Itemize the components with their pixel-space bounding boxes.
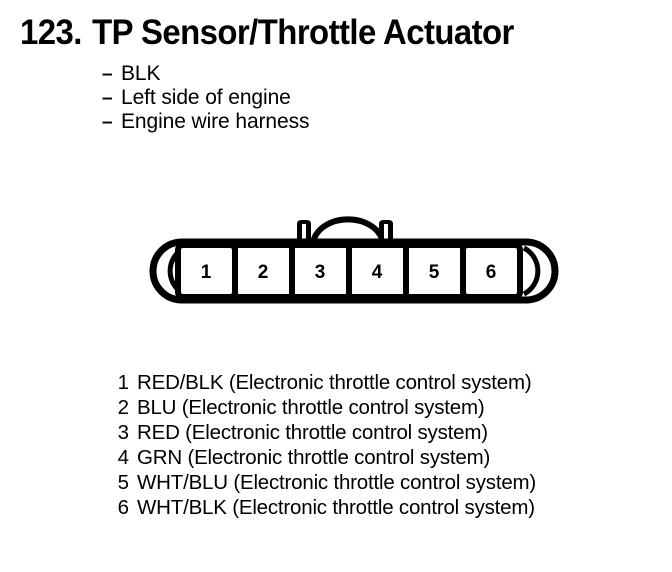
pin-description: RED/BLK (Electronic throttle control sys… — [137, 370, 532, 395]
pin-list-item: 4 GRN (Electronic throttle control syste… — [112, 445, 642, 470]
attribute-list: – BLK – Left side of engine – Engine wir… — [102, 62, 562, 134]
connector-diagram: 1 2 3 4 5 6 — [130, 200, 570, 315]
pin-list-item: 3 RED (Electronic throttle control syste… — [112, 420, 642, 445]
attribute-text: BLK — [121, 62, 160, 86]
pin-number: 1 — [112, 370, 129, 395]
pin-list-item: 5 WHT/BLU (Electronic throttle control s… — [112, 470, 642, 495]
pin-list-item: 1 RED/BLK (Electronic throttle control s… — [112, 370, 642, 395]
attribute-text: Left side of engine — [121, 86, 291, 110]
pin-list-item: 6 WHT/BLK (Electronic throttle control s… — [112, 495, 642, 520]
attribute-item: – BLK — [102, 62, 562, 86]
cavity-label-3: 3 — [315, 262, 326, 283]
pin-description: RED (Electronic throttle control system) — [137, 420, 488, 445]
latch-post-left-slot-icon — [302, 224, 306, 240]
dash-bullet-icon: – — [102, 63, 121, 87]
dash-bullet-icon: – — [102, 111, 121, 135]
latch-arch-icon — [314, 219, 383, 241]
cavity-label-2: 2 — [258, 262, 269, 283]
cavity-label-6: 6 — [486, 262, 497, 283]
page-title-number: 123. — [20, 13, 82, 52]
pin-list-item: 2 BLU (Electronic throttle control syste… — [112, 395, 642, 420]
pin-description: GRN (Electronic throttle control system) — [137, 445, 490, 470]
page-title-text: TP Sensor/Throttle Actuator — [92, 13, 514, 52]
connector-cavities — [178, 245, 520, 297]
page-title: 123.TP Sensor/Throttle Actuator — [20, 13, 514, 53]
pin-number: 6 — [112, 495, 129, 520]
dash-bullet-icon: – — [102, 87, 121, 111]
pin-number: 2 — [112, 395, 129, 420]
attribute-text: Engine wire harness — [121, 110, 309, 134]
pin-list: 1 RED/BLK (Electronic throttle control s… — [112, 370, 642, 520]
cavity-label-1: 1 — [201, 262, 212, 283]
pin-number: 3 — [112, 420, 129, 445]
pin-description: WHT/BLU (Electronic throttle control sys… — [137, 470, 536, 495]
pin-number: 5 — [112, 470, 129, 495]
cavity-label-5: 5 — [429, 262, 440, 283]
attribute-item: – Engine wire harness — [102, 110, 562, 134]
pin-description: BLU (Electronic throttle control system) — [137, 395, 484, 420]
pin-number: 4 — [112, 445, 129, 470]
attribute-item: – Left side of engine — [102, 86, 562, 110]
cavity-label-4: 4 — [372, 262, 383, 283]
pin-description: WHT/BLK (Electronic throttle control sys… — [137, 495, 535, 520]
latch-post-right-slot-icon — [384, 224, 388, 240]
